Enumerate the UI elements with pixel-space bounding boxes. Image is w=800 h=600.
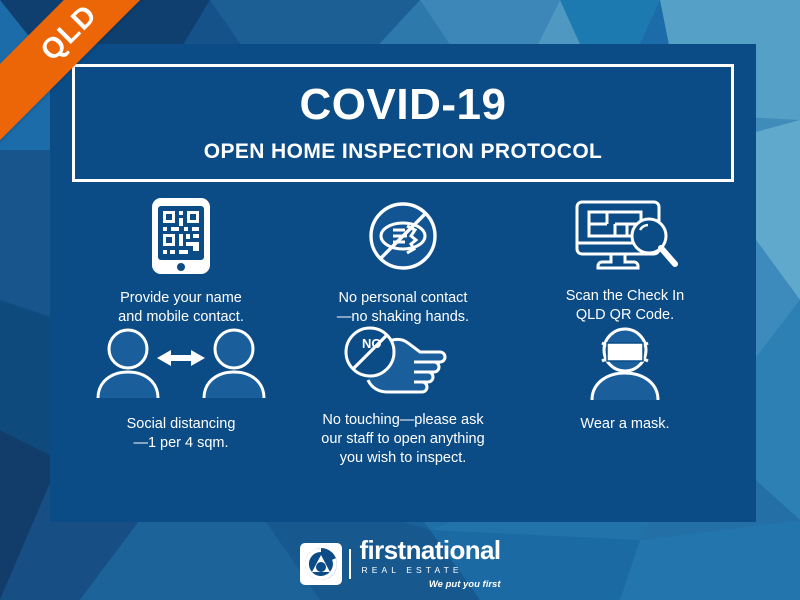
protocol-item: Social distancing —1 per 4 sqm. [70, 322, 292, 456]
first-national-logo: firstnational REAL ESTATE We put you fir… [0, 537, 800, 590]
logo-subtitle: REAL ESTATE [362, 565, 501, 575]
logo-divider [349, 549, 351, 579]
protocol-caption: Scan the Check In QLD QR Code. [566, 287, 685, 325]
protocol-grid: Provide your name and mobile contact. No… [70, 196, 736, 476]
svg-text:NO: NO [362, 336, 382, 351]
protocol-item: Wear a mask. [514, 322, 736, 456]
monitor-floorplan-magnifier-icon [569, 196, 681, 274]
protocol-caption: Social distancing —1 per 4 sqm. [127, 415, 236, 453]
protocol-item: No personal contact —no shaking hands. [292, 196, 514, 322]
person-face-mask-icon [580, 322, 670, 402]
logo-name: firstnational [360, 537, 501, 563]
logo-tagline: We put you first [360, 579, 501, 590]
first-national-mark-icon [300, 543, 342, 585]
protocol-caption: No touching—please ask our staff to open… [321, 411, 484, 468]
protocol-caption: Wear a mask. [580, 415, 669, 434]
page-title: COVID-19 [300, 83, 507, 127]
no-handshake-icon [363, 196, 443, 276]
protocol-item: Provide your name and mobile contact. [70, 196, 292, 322]
protocol-item: NO No touching—please ask our staff to o… [292, 322, 514, 456]
social-distancing-icon [95, 322, 267, 402]
no-touching-hand-icon: NO [342, 322, 464, 398]
title-box: COVID-19 OPEN HOME INSPECTION PROTOCOL [72, 64, 734, 182]
protocol-item: Scan the Check In QLD QR Code. [514, 196, 736, 322]
phone-qr-code-icon [150, 196, 212, 276]
page-subtitle: OPEN HOME INSPECTION PROTOCOL [204, 140, 603, 164]
main-panel: COVID-19 OPEN HOME INSPECTION PROTOCOL [50, 44, 756, 522]
